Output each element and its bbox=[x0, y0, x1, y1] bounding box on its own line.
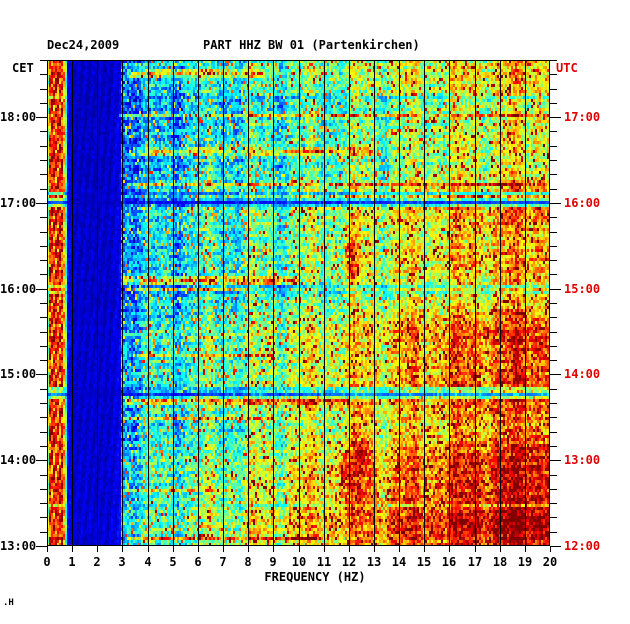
y-tick-right bbox=[550, 489, 557, 490]
y-tick-left bbox=[40, 475, 47, 476]
x-tick-18 bbox=[500, 546, 501, 552]
y-tick-right bbox=[550, 332, 557, 333]
y-tick-left bbox=[40, 403, 47, 404]
y-tick-right bbox=[550, 532, 557, 533]
x-tick-20 bbox=[550, 546, 551, 552]
left-axis-label-cet: CET bbox=[12, 61, 34, 75]
y-tick-right bbox=[550, 203, 561, 204]
x-tick-label-5: 5 bbox=[169, 555, 176, 569]
x-tick-label-4: 4 bbox=[144, 555, 151, 569]
y-tick-right bbox=[550, 89, 557, 90]
y-tick-right bbox=[550, 317, 557, 318]
y-tick-left bbox=[40, 517, 47, 518]
x-tick-label-15: 15 bbox=[417, 555, 431, 569]
x-tick-9 bbox=[273, 546, 274, 552]
x-tick-label-3: 3 bbox=[118, 555, 125, 569]
y-tick-label-utc-17: 17:00 bbox=[564, 110, 600, 124]
y-tick-left bbox=[36, 374, 47, 375]
y-tick-right bbox=[550, 460, 561, 461]
right-axis-label-utc: UTC bbox=[556, 61, 578, 75]
header-date: Dec24,2009 bbox=[47, 38, 119, 52]
y-tick-left bbox=[40, 74, 47, 75]
x-tick-1 bbox=[72, 546, 73, 552]
y-tick-right bbox=[550, 60, 557, 61]
x-tick-19 bbox=[525, 546, 526, 552]
x-tick-12 bbox=[349, 546, 350, 552]
y-tick-left bbox=[40, 189, 47, 190]
x-tick-5 bbox=[173, 546, 174, 552]
y-tick-right bbox=[550, 174, 557, 175]
y-tick-left bbox=[40, 103, 47, 104]
x-tick-13 bbox=[374, 546, 375, 552]
y-tick-right bbox=[550, 217, 557, 218]
y-tick-left bbox=[36, 117, 47, 118]
y-tick-right bbox=[550, 246, 557, 247]
y-tick-right bbox=[550, 274, 557, 275]
y-tick-right bbox=[550, 103, 557, 104]
y-tick-right bbox=[550, 260, 557, 261]
x-tick-6 bbox=[198, 546, 199, 552]
corner-artifact-glyph: .H bbox=[3, 598, 14, 608]
y-tick-left bbox=[36, 289, 47, 290]
y-tick-label-cet-13: 13:00 bbox=[0, 539, 33, 553]
x-tick-label-18: 18 bbox=[493, 555, 507, 569]
y-tick-left bbox=[36, 546, 47, 547]
y-tick-left bbox=[40, 432, 47, 433]
x-tick-7 bbox=[223, 546, 224, 552]
y-tick-right bbox=[550, 417, 557, 418]
y-tick-right bbox=[550, 232, 557, 233]
x-tick-label-16: 16 bbox=[442, 555, 456, 569]
x-tick-2 bbox=[97, 546, 98, 552]
x-tick-16 bbox=[449, 546, 450, 552]
y-tick-label-cet-17: 17:00 bbox=[0, 196, 33, 210]
y-tick-right bbox=[550, 146, 557, 147]
y-tick-left bbox=[40, 160, 47, 161]
x-tick-label-8: 8 bbox=[244, 555, 251, 569]
x-tick-11 bbox=[324, 546, 325, 552]
y-tick-right bbox=[550, 432, 557, 433]
y-tick-left bbox=[40, 532, 47, 533]
x-axis-title: FREQUENCY (HZ) bbox=[264, 570, 365, 584]
x-tick-8 bbox=[248, 546, 249, 552]
y-tick-left bbox=[40, 317, 47, 318]
x-tick-label-14: 14 bbox=[392, 555, 406, 569]
y-tick-left bbox=[36, 460, 47, 461]
y-tick-right bbox=[550, 374, 561, 375]
y-tick-label-utc-13: 13:00 bbox=[564, 453, 600, 467]
y-tick-left bbox=[40, 131, 47, 132]
y-tick-label-cet-15: 15:00 bbox=[0, 367, 33, 381]
y-tick-left bbox=[40, 260, 47, 261]
y-tick-left bbox=[40, 303, 47, 304]
y-tick-left bbox=[40, 346, 47, 347]
y-tick-label-cet-18: 18:00 bbox=[0, 110, 33, 124]
y-tick-left bbox=[40, 217, 47, 218]
y-tick-right bbox=[550, 346, 557, 347]
y-tick-left bbox=[40, 146, 47, 147]
y-tick-right bbox=[550, 131, 557, 132]
spectrogram-canvas bbox=[47, 60, 550, 546]
y-tick-left bbox=[40, 246, 47, 247]
x-tick-label-20: 20 bbox=[543, 555, 557, 569]
x-tick-0 bbox=[47, 546, 48, 552]
y-tick-right bbox=[550, 546, 561, 547]
x-tick-label-13: 13 bbox=[367, 555, 381, 569]
y-tick-left bbox=[36, 203, 47, 204]
x-tick-label-19: 19 bbox=[518, 555, 532, 569]
x-tick-label-7: 7 bbox=[219, 555, 226, 569]
y-tick-label-utc-15: 15:00 bbox=[564, 282, 600, 296]
x-tick-4 bbox=[148, 546, 149, 552]
spectrogram-plot-area bbox=[47, 60, 550, 546]
x-tick-label-9: 9 bbox=[269, 555, 276, 569]
x-tick-label-10: 10 bbox=[292, 555, 306, 569]
y-tick-right bbox=[550, 446, 557, 447]
header-station-title: PART HHZ BW 01 (Partenkirchen) bbox=[203, 38, 420, 52]
y-tick-left bbox=[40, 274, 47, 275]
y-tick-left bbox=[40, 417, 47, 418]
x-tick-10 bbox=[299, 546, 300, 552]
y-tick-right bbox=[550, 403, 557, 404]
x-tick-14 bbox=[399, 546, 400, 552]
y-tick-label-utc-12: 12:00 bbox=[564, 539, 600, 553]
y-tick-left bbox=[40, 503, 47, 504]
y-tick-right bbox=[550, 160, 557, 161]
y-tick-left bbox=[40, 60, 47, 61]
y-tick-right bbox=[550, 475, 557, 476]
y-tick-left bbox=[40, 232, 47, 233]
x-tick-label-2: 2 bbox=[93, 555, 100, 569]
x-tick-label-11: 11 bbox=[317, 555, 331, 569]
y-tick-right bbox=[550, 74, 557, 75]
y-tick-left bbox=[40, 332, 47, 333]
y-tick-right bbox=[550, 389, 557, 390]
x-tick-3 bbox=[122, 546, 123, 552]
y-tick-right bbox=[550, 189, 557, 190]
x-tick-17 bbox=[475, 546, 476, 552]
y-tick-left bbox=[40, 389, 47, 390]
x-tick-label-6: 6 bbox=[194, 555, 201, 569]
x-tick-15 bbox=[424, 546, 425, 552]
y-tick-label-cet-16: 16:00 bbox=[0, 282, 33, 296]
y-tick-right bbox=[550, 289, 561, 290]
y-tick-right bbox=[550, 303, 557, 304]
y-tick-right bbox=[550, 517, 557, 518]
y-tick-left bbox=[40, 174, 47, 175]
y-tick-right bbox=[550, 503, 557, 504]
y-tick-right bbox=[550, 360, 557, 361]
y-tick-label-cet-14: 14:00 bbox=[0, 453, 33, 467]
y-tick-left bbox=[40, 489, 47, 490]
y-tick-right bbox=[550, 117, 561, 118]
x-tick-label-1: 1 bbox=[68, 555, 75, 569]
y-tick-left bbox=[40, 89, 47, 90]
spectrogram-page: Dec24,2009 PART HHZ BW 01 (Partenkirchen… bbox=[0, 0, 630, 624]
y-tick-label-utc-16: 16:00 bbox=[564, 196, 600, 210]
x-tick-label-0: 0 bbox=[43, 555, 50, 569]
x-tick-label-17: 17 bbox=[468, 555, 482, 569]
y-tick-left bbox=[40, 446, 47, 447]
y-tick-left bbox=[40, 360, 47, 361]
x-tick-label-12: 12 bbox=[342, 555, 356, 569]
y-tick-label-utc-14: 14:00 bbox=[564, 367, 600, 381]
